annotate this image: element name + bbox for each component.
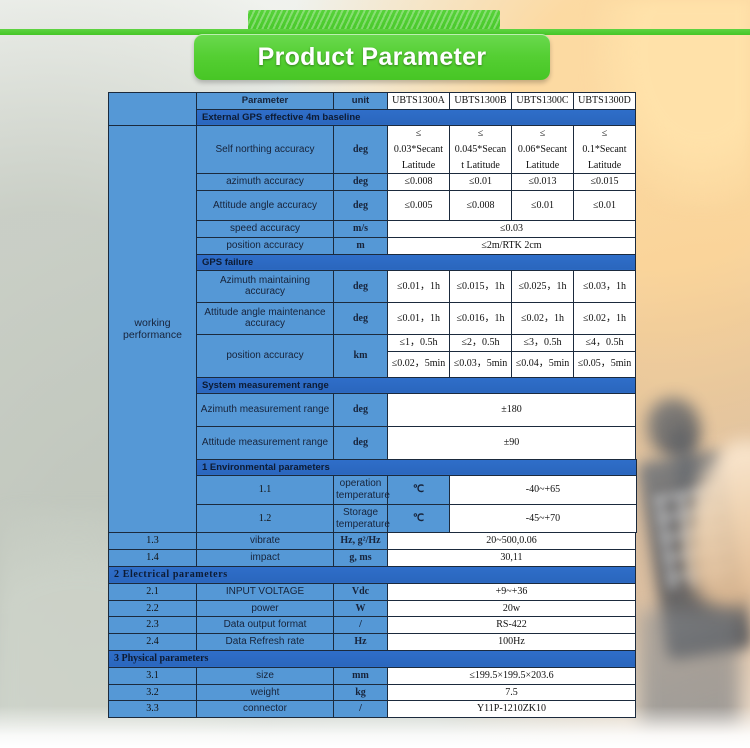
table-row: 2.1 INPUT VOLTAGE Vdc +9~+36 <box>109 583 637 600</box>
cell-attitude-angle-accuracy-b: ≤0.008 <box>450 191 512 221</box>
table-row: 3.1 size mm ≤199.5×199.5×203.6 <box>109 667 637 684</box>
table-row: 1.3 vibrate Hz, g²/Hz 20~500,0.06 <box>109 533 637 550</box>
group-label-working-performance: working performance <box>109 126 197 533</box>
cell-position-failure-r1-d: ≤4，0.5h <box>574 334 636 351</box>
title-banner: Product Parameter <box>194 34 550 80</box>
row-no-weight: 3.2 <box>109 684 197 701</box>
section-title-environmental: 1 Environmental parameters <box>197 459 637 475</box>
cell-position-failure-r2-b: ≤0.03，5min <box>450 351 512 377</box>
cell-self-northing-c3: Latitude <box>512 158 574 174</box>
cell-vibrate-value: 20~500,0.06 <box>388 533 636 550</box>
row-unit-azimuth-maintaining: deg <box>334 270 388 302</box>
cell-self-northing-a2: 0.03*Secant <box>388 142 450 158</box>
row-label-azimuth-maintaining: Azimuth maintaining accuracy <box>197 270 334 302</box>
cell-attitude-maintenance-a: ≤0.01，1h <box>388 302 450 334</box>
cell-self-northing-a3: Latitude <box>388 158 450 174</box>
cell-speed-accuracy-value: ≤0.03 <box>388 221 636 238</box>
cell-azimuth-maintaining-a: ≤0.01，1h <box>388 270 450 302</box>
cell-storage-temp-value: -45~+70 <box>450 504 637 533</box>
table-row: 2.3 Data output format / RS-422 <box>109 617 637 634</box>
row-no-storage-temp: 1.2 <box>197 504 334 533</box>
row-unit-power: W <box>334 600 388 617</box>
row-unit-position-accuracy-failure: km <box>334 334 388 377</box>
row-unit-connector: / <box>334 701 388 718</box>
cell-self-northing-b3: t Latitude <box>450 158 512 174</box>
row-label-impact: impact <box>197 550 334 567</box>
row-label-refresh-rate: Data Refresh rate <box>197 634 334 651</box>
cell-self-northing-d1: ≤ <box>574 126 636 142</box>
row-unit-attitude-range: deg <box>334 426 388 459</box>
cell-self-northing-b2: 0.045*Secan <box>450 142 512 158</box>
table-row: 3.2 weight kg 7.5 <box>109 684 637 701</box>
cell-position-failure-r2-c: ≤0.04，5min <box>512 351 574 377</box>
row-unit-speed-accuracy: m/s <box>334 221 388 238</box>
row-no-power: 2.2 <box>109 600 197 617</box>
cell-azimuth-maintaining-b: ≤0.015，1h <box>450 270 512 302</box>
cell-position-failure-r1-c: ≤3，0.5h <box>512 334 574 351</box>
row-unit-impact: g, ms <box>334 550 388 567</box>
section-title-gps-failure: GPS failure <box>197 254 636 270</box>
table-row: 2.2 power W 20w <box>109 600 637 617</box>
table-row: 3.3 connector / Y11P-1210ZK10 <box>109 701 637 718</box>
row-unit-azimuth-range: deg <box>334 393 388 426</box>
cell-self-northing-d3: Latitude <box>574 158 636 174</box>
page-header: Product Parameter <box>0 0 750 92</box>
row-label-position-accuracy-failure: position accuracy <box>197 334 334 377</box>
cell-self-northing-c1: ≤ <box>512 126 574 142</box>
cell-op-temp-value: -40~+65 <box>450 476 637 505</box>
table-header-row: Parameter unit UBTS1300A UBTS1300B UBTS1… <box>109 93 637 110</box>
row-unit-attitude-maintenance: deg <box>334 302 388 334</box>
row-unit-input-voltage: Vdc <box>334 583 388 600</box>
cell-attitude-maintenance-c: ≤0.02，1h <box>512 302 574 334</box>
row-no-impact: 1.4 <box>109 550 197 567</box>
row-no-input-voltage: 2.1 <box>109 583 197 600</box>
row-label-speed-accuracy: speed accuracy <box>197 221 334 238</box>
row-no-op-temp: 1.1 <box>197 476 334 505</box>
row-no-vibrate: 1.3 <box>109 533 197 550</box>
cell-azimuth-accuracy-a: ≤0.008 <box>388 174 450 191</box>
section-row-physical: 3 Physical parameters <box>109 650 637 667</box>
row-unit-weight: kg <box>334 684 388 701</box>
section-title-physical: 3 Physical parameters <box>109 650 636 667</box>
row-label-position-accuracy-gps: position accuracy <box>197 237 334 254</box>
row-unit-attitude-angle-accuracy: deg <box>334 191 388 221</box>
cell-refresh-rate-value: 100Hz <box>388 634 636 651</box>
cell-self-northing-d2: 0.1*Secant <box>574 142 636 158</box>
row-unit-op-temp: ℃ <box>388 476 450 505</box>
row-label-weight: weight <box>197 684 334 701</box>
table-row: 2.4 Data Refresh rate Hz 100Hz <box>109 634 637 651</box>
cell-attitude-angle-accuracy-a: ≤0.005 <box>388 191 450 221</box>
cell-impact-value: 30,11 <box>388 550 636 567</box>
row-label-attitude-range: Attitude measurement range <box>197 426 334 459</box>
row-label-size: size <box>197 667 334 684</box>
cell-power-value: 20w <box>388 600 636 617</box>
row-label-data-output: Data output format <box>197 617 334 634</box>
header-model-d: UBTS1300D <box>574 93 636 110</box>
row-label-attitude-maintenance: Attitude angle maintenance accuracy <box>197 302 334 334</box>
page-title: Product Parameter <box>258 43 487 72</box>
row-label-attitude-angle-accuracy: Attitude angle accuracy <box>197 191 334 221</box>
cell-self-northing-a1: ≤ <box>388 126 450 142</box>
row-label-connector: connector <box>197 701 334 718</box>
row-no-refresh-rate: 2.4 <box>109 634 197 651</box>
cell-attitude-maintenance-d: ≤0.02，1h <box>574 302 636 334</box>
row-unit-refresh-rate: Hz <box>334 634 388 651</box>
section-title-external-gps: External GPS effective 4m baseline <box>197 109 636 125</box>
header-model-c: UBTS1300C <box>512 93 574 110</box>
cell-azimuth-accuracy-d: ≤0.015 <box>574 174 636 191</box>
row-label-op-temp: operation temperature <box>334 476 388 505</box>
cell-connector-value: Y11P-1210ZK10 <box>388 701 636 718</box>
row-no-connector: 3.3 <box>109 701 197 718</box>
cell-position-failure-r1-b: ≤2，0.5h <box>450 334 512 351</box>
product-parameter-table: Parameter unit UBTS1300A UBTS1300B UBTS1… <box>108 92 637 718</box>
cell-attitude-range-value: ±90 <box>388 426 636 459</box>
table-row: 1.4 impact g, ms 30,11 <box>109 550 637 567</box>
cell-position-failure-r1-a: ≤1，0.5h <box>388 334 450 351</box>
section-title-system-range: System measurement range <box>197 377 636 393</box>
row-label-power: power <box>197 600 334 617</box>
cell-position-failure-r2-d: ≤0.05，5min <box>574 351 636 377</box>
cell-weight-value: 7.5 <box>388 684 636 701</box>
row-unit-storage-temp: ℃ <box>388 504 450 533</box>
cell-data-output-value: RS-422 <box>388 617 636 634</box>
cell-position-failure-r2-a: ≤0.02，5min <box>388 351 450 377</box>
row-label-vibrate: vibrate <box>197 533 334 550</box>
row-unit-size: mm <box>334 667 388 684</box>
header-parameter: Parameter <box>197 93 334 110</box>
row-unit-self-northing: deg <box>334 126 388 174</box>
row-label-self-northing: Self northing accuracy <box>197 126 334 174</box>
table-row: working performance Self northing accura… <box>109 126 637 142</box>
cell-position-accuracy-gps-value: ≤2m/RTK 2cm <box>388 237 636 254</box>
cell-azimuth-accuracy-c: ≤0.013 <box>512 174 574 191</box>
section-row-electrical: 2 Electrical parameters <box>109 566 637 583</box>
row-label-storage-temp: Storage temperature <box>334 504 388 533</box>
cell-input-voltage-value: +9~+36 <box>388 583 636 600</box>
cell-attitude-maintenance-b: ≤0.016，1h <box>450 302 512 334</box>
header-group-cell <box>109 93 197 126</box>
section-title-electrical: 2 Electrical parameters <box>109 566 636 583</box>
cell-self-northing-c2: 0.06*Secant <box>512 142 574 158</box>
cell-azimuth-maintaining-d: ≤0.03，1h <box>574 270 636 302</box>
row-no-size: 3.1 <box>109 667 197 684</box>
row-label-azimuth-range: Azimuth measurement range <box>197 393 334 426</box>
row-unit-position-accuracy-gps: m <box>334 237 388 254</box>
cell-attitude-angle-accuracy-c: ≤0.01 <box>512 191 574 221</box>
cell-azimuth-maintaining-c: ≤0.025，1h <box>512 270 574 302</box>
row-label-azimuth-accuracy: azimuth accuracy <box>197 174 334 191</box>
row-label-input-voltage: INPUT VOLTAGE <box>197 583 334 600</box>
header-model-b: UBTS1300B <box>450 93 512 110</box>
cell-self-northing-b1: ≤ <box>450 126 512 142</box>
row-no-data-output: 2.3 <box>109 617 197 634</box>
cell-attitude-angle-accuracy-d: ≤0.01 <box>574 191 636 221</box>
row-unit-data-output: / <box>334 617 388 634</box>
row-unit-vibrate: Hz, g²/Hz <box>334 533 388 550</box>
cell-size-value: ≤199.5×199.5×203.6 <box>388 667 636 684</box>
cell-azimuth-range-value: ±180 <box>388 393 636 426</box>
cell-azimuth-accuracy-b: ≤0.01 <box>450 174 512 191</box>
header-unit: unit <box>334 93 388 110</box>
header-model-a: UBTS1300A <box>388 93 450 110</box>
row-unit-azimuth-accuracy: deg <box>334 174 388 191</box>
